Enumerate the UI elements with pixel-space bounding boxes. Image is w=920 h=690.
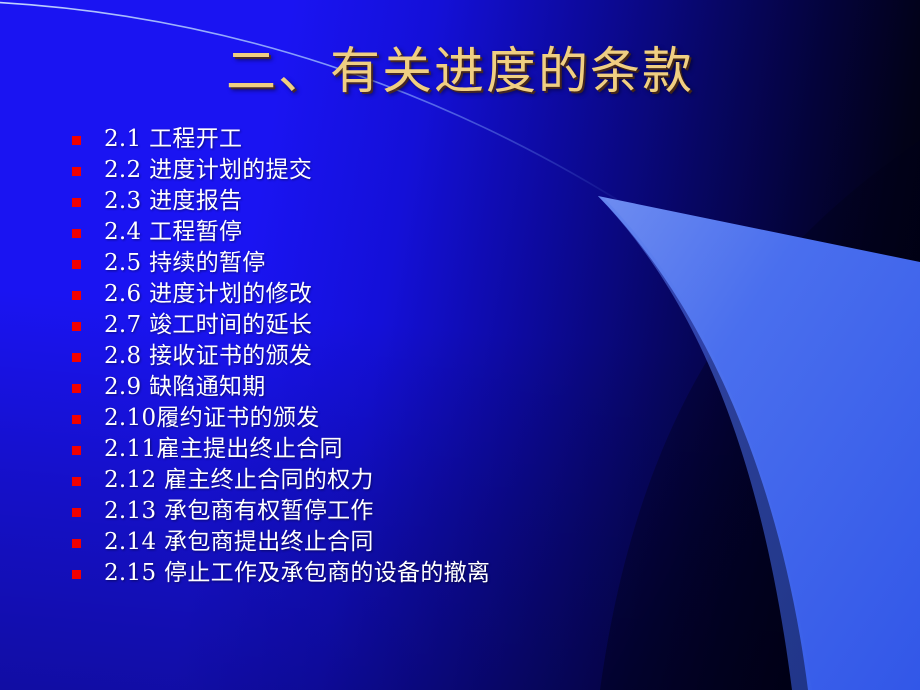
square-bullet-icon	[72, 446, 81, 455]
list-item-label: 2.9 缺陷通知期	[104, 372, 266, 403]
square-bullet-icon	[72, 291, 81, 300]
list-item-label: 2.2 进度计划的提交	[104, 155, 312, 186]
square-bullet-icon	[72, 167, 81, 176]
list-item[interactable]: 2.10履约证书的颁发	[72, 403, 490, 434]
list-item-label: 2.12 雇主终止合同的权力	[104, 465, 374, 496]
list-item-label: 2.13 承包商有权暂停工作	[104, 496, 374, 527]
square-bullet-icon	[72, 322, 81, 331]
list-item[interactable]: 2.12 雇主终止合同的权力	[72, 465, 490, 496]
list-item[interactable]: 2.2 进度计划的提交	[72, 155, 490, 186]
list-item[interactable]: 2.8 接收证书的颁发	[72, 341, 490, 372]
square-bullet-icon	[72, 508, 81, 517]
square-bullet-icon	[72, 353, 81, 362]
list-item-label: 2.14 承包商提出终止合同	[104, 527, 374, 558]
bullet-list: 2.1 工程开工 2.2 进度计划的提交 2.3 进度报告 2.4 工程暂停 2…	[72, 124, 490, 589]
list-item[interactable]: 2.15 停止工作及承包商的设备的撤离	[72, 558, 490, 589]
list-item[interactable]: 2.9 缺陷通知期	[72, 372, 490, 403]
square-bullet-icon	[72, 198, 81, 207]
slide-title: 二、有关进度的条款	[0, 44, 920, 98]
list-item-label: 2.11雇主提出终止合同	[104, 434, 343, 465]
list-item-label: 2.10履约证书的颁发	[104, 403, 320, 434]
list-item[interactable]: 2.4 工程暂停	[72, 217, 490, 248]
list-item[interactable]: 2.1 工程开工	[72, 124, 490, 155]
square-bullet-icon	[72, 415, 81, 424]
list-item-label: 2.1 工程开工	[104, 124, 242, 155]
list-item[interactable]: 2.3 进度报告	[72, 186, 490, 217]
list-item[interactable]: 2.6 进度计划的修改	[72, 279, 490, 310]
list-item-label: 2.4 工程暂停	[104, 217, 242, 248]
list-item[interactable]: 2.5 持续的暂停	[72, 248, 490, 279]
list-item[interactable]: 2.14 承包商提出终止合同	[72, 527, 490, 558]
square-bullet-icon	[72, 384, 81, 393]
list-item-label: 2.6 进度计划的修改	[104, 279, 312, 310]
square-bullet-icon	[72, 539, 81, 548]
list-item-label: 2.3 进度报告	[104, 186, 242, 217]
list-item-label: 2.15 停止工作及承包商的设备的撤离	[104, 558, 490, 589]
square-bullet-icon	[72, 477, 81, 486]
list-item[interactable]: 2.7 竣工时间的延长	[72, 310, 490, 341]
square-bullet-icon	[72, 229, 81, 238]
list-item[interactable]: 2.13 承包商有权暂停工作	[72, 496, 490, 527]
square-bullet-icon	[72, 260, 81, 269]
list-item-label: 2.5 持续的暂停	[104, 248, 266, 279]
presentation-slide: 二、有关进度的条款 2.1 工程开工 2.2 进度计划的提交 2.3 进度报告 …	[0, 0, 920, 690]
list-item-label: 2.8 接收证书的颁发	[104, 341, 312, 372]
list-item-label: 2.7 竣工时间的延长	[104, 310, 312, 341]
square-bullet-icon	[72, 136, 81, 145]
list-item[interactable]: 2.11雇主提出终止合同	[72, 434, 490, 465]
square-bullet-icon	[72, 570, 81, 579]
